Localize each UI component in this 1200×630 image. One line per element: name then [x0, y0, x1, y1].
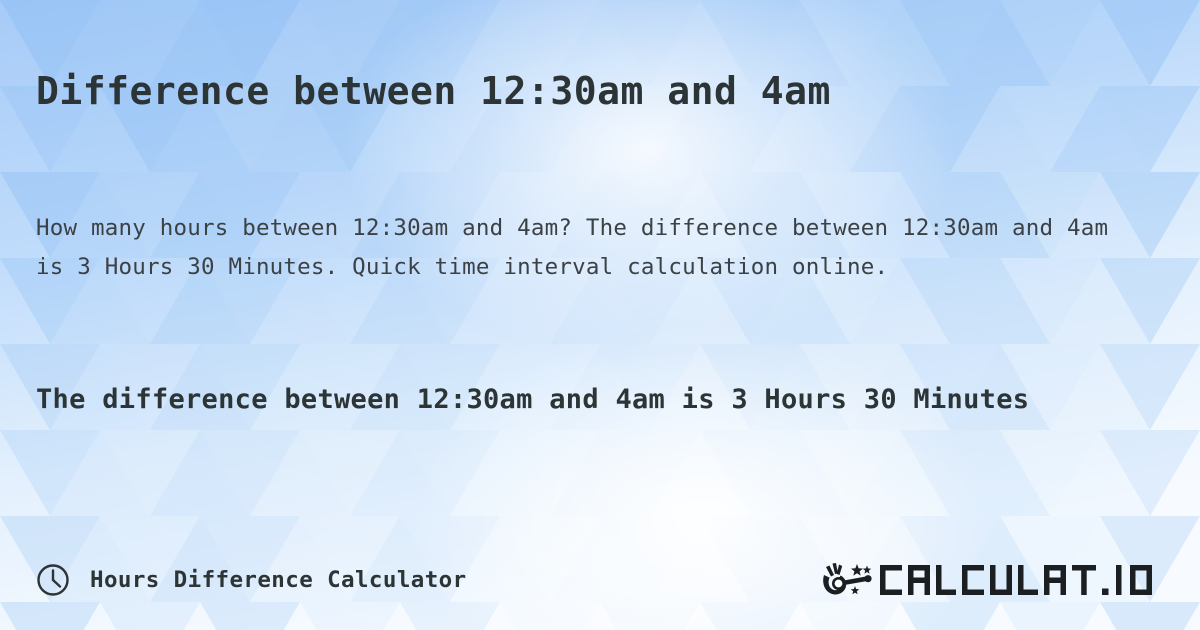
footer-calculator-link[interactable]: Hours Difference Calculator [36, 552, 467, 608]
intro-paragraph: How many hours between 12:30am and 4am? … [36, 209, 1146, 287]
magic-wand-hand-icon [820, 559, 876, 601]
page-title: Difference between 12:30am and 4am [36, 69, 1166, 115]
clock-icon [36, 563, 70, 597]
footer-label: Hours Difference Calculator [90, 567, 467, 593]
brand-logo[interactable]: CALCULAT.IO [820, 552, 1178, 608]
brand-wordmark: CALCULAT.IO [878, 559, 1178, 601]
page-root: Difference between 12:30am and 4am How m… [0, 0, 1200, 630]
content-layer: Difference between 12:30am and 4am How m… [0, 0, 1200, 630]
footer: Hours Difference Calculator [0, 552, 1200, 608]
result-heading: The difference between 12:30am and 4am i… [36, 377, 1096, 422]
